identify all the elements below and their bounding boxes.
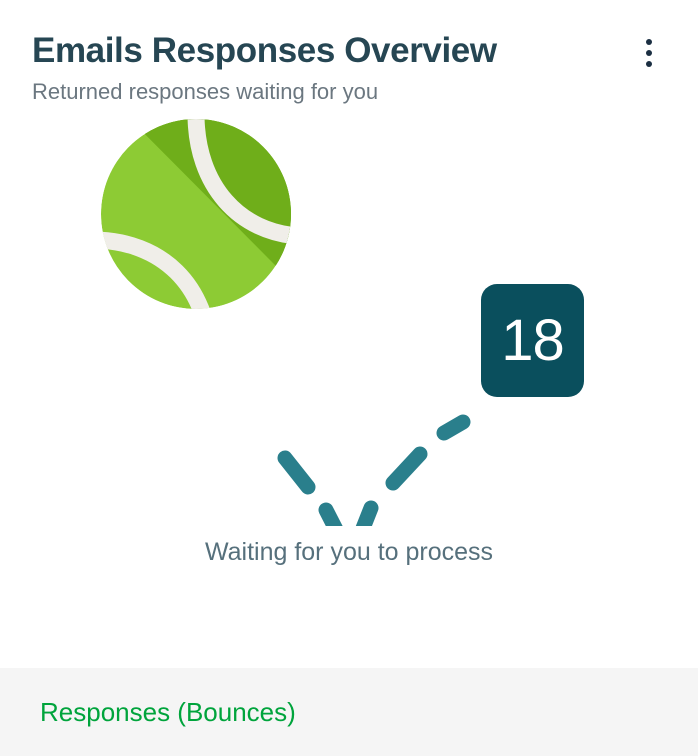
title-row: Emails Responses Overview	[32, 30, 666, 72]
emails-responses-overview-card: Emails Responses Overview Returned respo…	[0, 0, 698, 756]
illustration-caption: Waiting for you to process	[0, 536, 698, 568]
illustration-area: 18 Waiting for you to process	[0, 106, 698, 668]
kebab-menu-icon[interactable]	[634, 36, 664, 70]
kebab-dot	[646, 50, 652, 56]
count-badge-value: 18	[501, 312, 564, 370]
kebab-dot	[646, 61, 652, 67]
count-badge: 18	[481, 284, 584, 397]
illustration-graphic	[0, 106, 698, 526]
responses-bounces-link[interactable]: Responses (Bounces)	[40, 696, 296, 728]
page-title: Emails Responses Overview	[32, 30, 497, 72]
bounce-marks-icon	[285, 422, 463, 526]
card-header: Emails Responses Overview Returned respo…	[0, 0, 698, 106]
page-subtitle: Returned responses waiting for you	[32, 78, 666, 106]
kebab-dot	[646, 39, 652, 45]
card-footer: Responses (Bounces)	[0, 668, 698, 756]
tennis-ball-icon	[92, 106, 300, 356]
